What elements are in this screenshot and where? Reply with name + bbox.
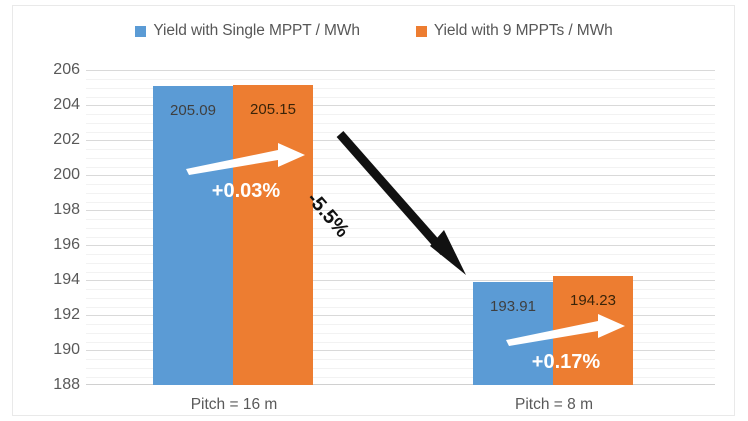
- y-tick-190: 190: [28, 341, 80, 359]
- y-tick-198: 198: [28, 201, 80, 219]
- y-tick-202: 202: [28, 131, 80, 149]
- black-diagonal-arrow-icon: [86, 70, 715, 385]
- legend-label-single-mppt: Yield with Single MPPT / MWh: [153, 22, 360, 40]
- legend-swatch-icon-orange: [416, 26, 427, 37]
- x-category-label-pitch-8: Pitch = 8 m: [515, 396, 593, 414]
- legend-entry-single-mppt[interactable]: Yield with Single MPPT / MWh: [135, 22, 360, 40]
- chart-legend: Yield with Single MPPT / MWh Yield with …: [0, 18, 748, 44]
- plot-area: 205.09 205.15 193.91 194.23 +0.03% +0.17…: [86, 70, 715, 385]
- chart-container: Yield with Single MPPT / MWh Yield with …: [0, 0, 748, 421]
- y-tick-194: 194: [28, 271, 80, 289]
- y-tick-204: 204: [28, 96, 80, 114]
- y-tick-196: 196: [28, 236, 80, 254]
- legend-label-9-mppts: Yield with 9 MPPTs / MWh: [434, 22, 613, 40]
- legend-entry-9-mppts[interactable]: Yield with 9 MPPTs / MWh: [416, 22, 613, 40]
- legend-swatch-icon-blue: [135, 26, 146, 37]
- y-tick-188: 188: [28, 376, 80, 394]
- y-tick-206: 206: [28, 61, 80, 79]
- y-axis-tick-labels: 206 204 202 200 198 196 194 192 190 188: [22, 70, 80, 385]
- y-tick-192: 192: [28, 306, 80, 324]
- y-tick-200: 200: [28, 166, 80, 184]
- x-category-label-pitch-16: Pitch = 16 m: [191, 396, 278, 414]
